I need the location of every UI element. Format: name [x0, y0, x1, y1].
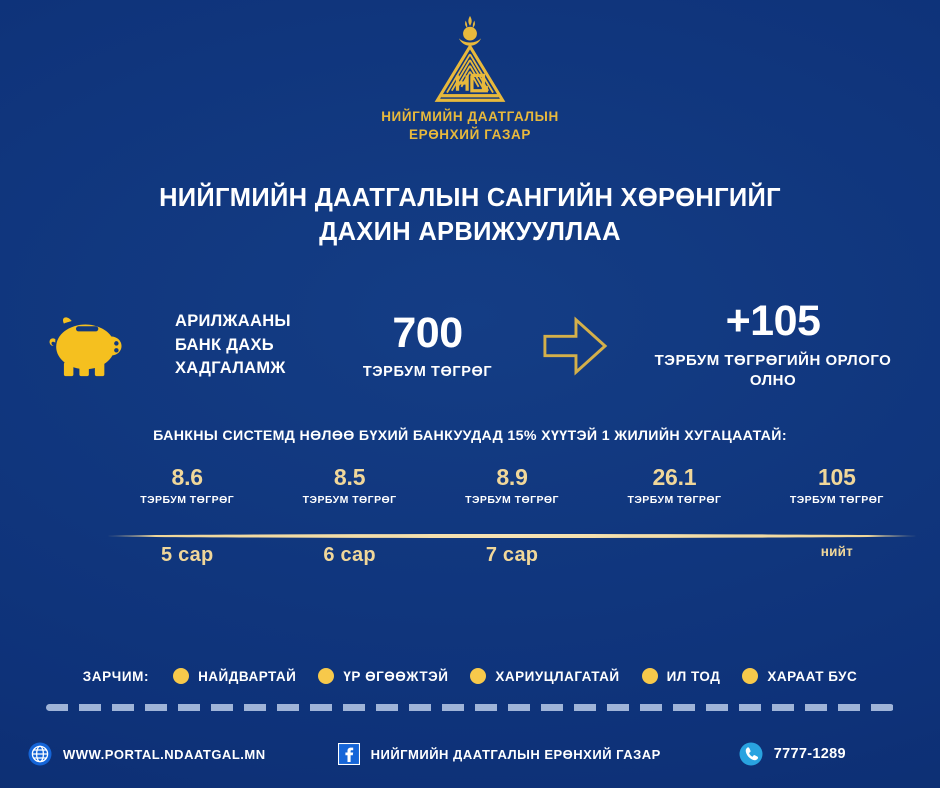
principle-item: НАЙДВАРТАЙ [173, 668, 296, 684]
organization-logo: НИЙГМИЙН ДААТГАЛЫН ЕРӨНХИЙ ГАЗАР [0, 12, 940, 144]
footer-contact-bar: WWW.PORTAL.NDAATGAL.MN НИЙГМИЙН ДААТГАЛЫ… [0, 732, 940, 776]
principle-item: ХАРААТ БУС [742, 668, 857, 684]
breakdown-column: 26.1 ТЭРБУМ ТӨГРӨГ [593, 466, 755, 506]
breakdown-value: 26.1 [593, 466, 755, 489]
logo-line-1: НИЙГМИЙН ДААТГАЛЫН [381, 108, 559, 126]
period-label: 7 сар [431, 544, 593, 567]
dashed-divider [46, 704, 894, 711]
piggy-bank-container [0, 308, 175, 384]
phone-icon [739, 742, 763, 766]
ndaatgal-emblem-icon [422, 12, 518, 108]
bullet-dot-icon [318, 668, 334, 684]
piggy-bank-icon [45, 308, 131, 384]
principle-label: ҮР ӨГӨӨЖТЭЙ [343, 669, 448, 684]
logo-line-2: ЕРӨНХИЙ ГАЗАР [409, 126, 531, 144]
infographic-poster: НИЙГМИЙН ДААТГАЛЫН ЕРӨНХИЙ ГАЗАР НИЙГМИЙ… [0, 0, 940, 788]
bullet-dot-icon [173, 668, 189, 684]
income-result-value: +105 [630, 300, 916, 343]
bullet-dot-icon [470, 668, 486, 684]
breakdown-unit: ТЭРБУМ ТӨГРӨГ [593, 494, 755, 506]
breakdown-value: 8.5 [268, 466, 430, 489]
breakdown-value: 8.6 [106, 466, 268, 489]
principles-label: ЗАРЧИМ: [83, 669, 149, 684]
bullet-dot-icon [742, 668, 758, 684]
breakdown-unit: ТЭРБУМ ТӨГРӨГ [756, 494, 918, 506]
bullet-dot-icon [642, 668, 658, 684]
timeline-period-row: 5 сар 6 сар 7 сар нийт [106, 544, 918, 567]
savings-amount-value: 700 [335, 312, 520, 355]
period-label: 6 сар [268, 544, 430, 567]
timeline-divider [108, 534, 916, 538]
principle-label: ИЛ ТОД [667, 669, 721, 684]
principle-item: ҮР ӨГӨӨЖТЭЙ [318, 668, 448, 684]
savings-amount: 700 ТЭРБУМ ТӨГРӨГ [335, 312, 520, 380]
facebook-icon [338, 743, 360, 765]
period-label-total: нийт [756, 544, 918, 567]
arrow-right-icon [541, 313, 609, 379]
phone-number: 7777-1289 [774, 746, 846, 762]
principle-item: ХАРИУЦЛАГАТАЙ [470, 668, 619, 684]
breakdown-column: 8.6 ТЭРБУМ ТӨГРӨГ [106, 466, 268, 506]
savings-source-label: АРИЛЖААНЫ БАНК ДАХЬ ХАДГАЛАМЖ [175, 310, 335, 382]
footer-facebook[interactable]: НИЙГМИЙН ДААТГАЛЫН ЕРӨНХИЙ ГАЗАР [338, 743, 661, 765]
poster-title: НИЙГМИЙН ДААТГАЛЫН САНГИЙН ХӨРӨНГИЙГ ДАХ… [110, 182, 830, 249]
principles-row: ЗАРЧИМ: НАЙДВАРТАЙ ҮР ӨГӨӨЖТЭЙ ХАРИУЦЛАГ… [0, 668, 940, 684]
period-label [593, 544, 755, 567]
breakdown-column: 105 ТЭРБУМ ТӨГРӨГ [756, 466, 918, 506]
income-result: +105 ТЭРБУМ ТӨГРӨГИЙН ОРЛОГО ОЛНО [630, 300, 940, 392]
website-url: WWW.PORTAL.NDAATGAL.MN [63, 747, 266, 762]
facebook-page-name: НИЙГМИЙН ДААТГАЛЫН ЕРӨНХИЙ ГАЗАР [371, 747, 661, 762]
principle-label: ХАРААТ БУС [767, 669, 857, 684]
breakdown-column: 8.5 ТЭРБУМ ТӨГРӨГ [268, 466, 430, 506]
breakdown-heading: БАНКНЫ СИСТЕМД НӨЛӨӨ БҮХИЙ БАНКУУДАД 15%… [0, 428, 940, 444]
savings-amount-unit: ТЭРБУМ ТӨГРӨГ [335, 364, 520, 380]
breakdown-value: 105 [756, 466, 918, 489]
breakdown-column: 8.9 ТЭРБУМ ТӨГРӨГ [431, 466, 593, 506]
income-result-unit: ТЭРБУМ ТӨГРӨГИЙН ОРЛОГО ОЛНО [630, 351, 916, 392]
breakdown-unit: ТЭРБУМ ТӨГРӨГ [431, 494, 593, 506]
breakdown-values-row: 8.6 ТЭРБУМ ТӨГРӨГ 8.5 ТЭРБУМ ТӨГРӨГ 8.9 … [106, 466, 918, 506]
hero-summary-row: АРИЛЖААНЫ БАНК ДАХЬ ХАДГАЛАМЖ 700 ТЭРБУМ… [0, 288, 940, 403]
globe-icon [28, 742, 52, 766]
breakdown-unit: ТЭРБУМ ТӨГРӨГ [106, 494, 268, 506]
principle-label: ХАРИУЦЛАГАТАЙ [495, 669, 619, 684]
footer-phone[interactable]: 7777-1289 [739, 742, 846, 766]
breakdown-value: 8.9 [431, 466, 593, 489]
principle-item: ИЛ ТОД [642, 668, 721, 684]
principle-label: НАЙДВАРТАЙ [198, 669, 296, 684]
breakdown-unit: ТЭРБУМ ТӨГРӨГ [268, 494, 430, 506]
period-label: 5 сар [106, 544, 268, 567]
arrow-container [520, 313, 630, 379]
footer-website[interactable]: WWW.PORTAL.NDAATGAL.MN [28, 742, 266, 766]
